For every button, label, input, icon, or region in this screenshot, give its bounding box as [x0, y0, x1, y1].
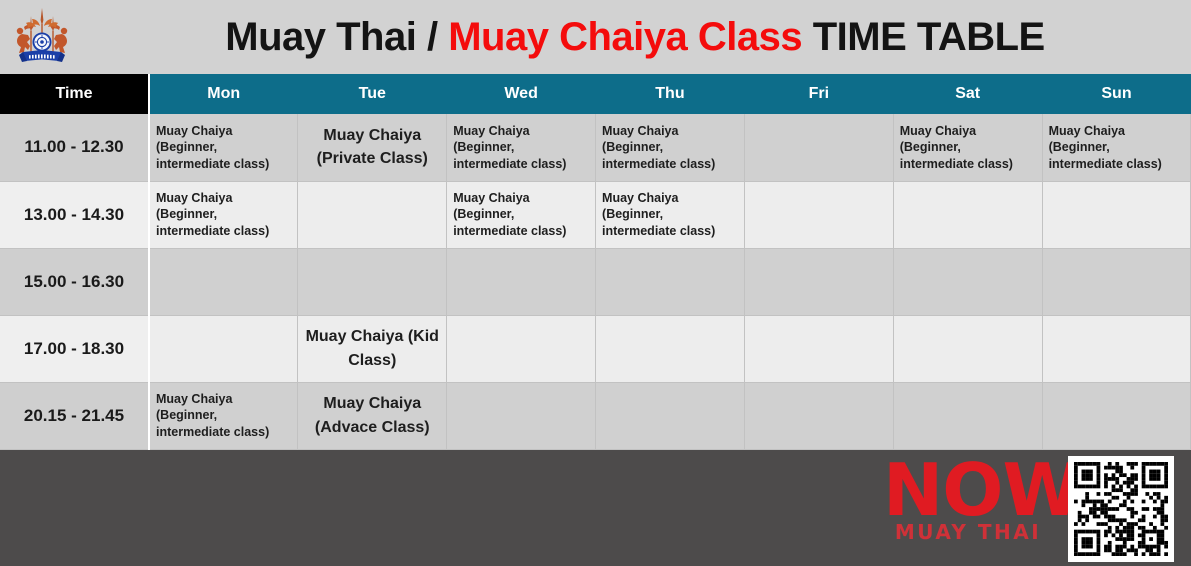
empty-cell [893, 181, 1042, 248]
empty-cell [744, 248, 893, 315]
empty-cell [596, 315, 745, 382]
empty-cell [1042, 315, 1191, 382]
brand-logo: NOW MUAY THAI [883, 454, 1053, 562]
class-cell[interactable]: Muay Chaiya (Beginner, intermediate clas… [893, 114, 1042, 181]
column-header-thu: Thu [596, 74, 745, 114]
empty-cell [744, 114, 893, 181]
column-header-wed: Wed [447, 74, 596, 114]
column-header-mon: Mon [149, 74, 298, 114]
empty-cell [893, 315, 1042, 382]
title-segment-time-table: TIME TABLE [802, 15, 1045, 59]
class-label: Muay Chaiya (Kid Class) [299, 325, 445, 371]
empty-cell [596, 248, 745, 315]
class-label: Muay Chaiya (Beginner, intermediate clas… [151, 391, 296, 441]
class-label: Muay Chaiya (Beginner, intermediate clas… [151, 123, 296, 173]
column-header-sun: Sun [1042, 74, 1191, 114]
class-label: Muay Chaiya (Beginner, intermediate clas… [151, 190, 296, 240]
column-header-tue: Tue [298, 74, 447, 114]
class-cell[interactable]: Muay Chaiya (Beginner, intermediate clas… [1042, 114, 1191, 181]
empty-cell [1042, 248, 1191, 315]
page-title: Muay Thai / Muay Chaiya Class TIME TABLE [150, 0, 1150, 74]
class-cell[interactable]: Muay Chaiya (Kid Class) [298, 315, 447, 382]
empty-cell [744, 181, 893, 248]
muay-thai-emblem-icon [9, 6, 75, 68]
class-cell[interactable]: Muay Chaiya (Advace Class) [298, 382, 447, 449]
table-body: 11.00 - 12.30Muay Chaiya (Beginner, inte… [0, 114, 1191, 449]
empty-cell [1042, 181, 1191, 248]
empty-cell [149, 248, 298, 315]
class-label: Muay Chaiya (Beginner, intermediate clas… [1044, 123, 1190, 173]
class-label: Muay Chaiya (Beginner, intermediate clas… [895, 123, 1041, 173]
time-slot-label: 15.00 - 16.30 [0, 248, 149, 315]
class-cell[interactable]: Muay Chaiya (Beginner, intermediate clas… [596, 114, 745, 181]
class-label: Muay Chaiya (Beginner, intermediate clas… [448, 190, 594, 240]
class-label: Muay Chaiya (Beginner, intermediate clas… [448, 123, 594, 173]
table-row: 15.00 - 16.30 [0, 248, 1191, 315]
brand-tagline-muay-thai: MUAY THAI [883, 522, 1053, 542]
class-label: Muay Chaiya (Advace Class) [299, 392, 445, 438]
empty-cell [893, 382, 1042, 449]
empty-cell [1042, 382, 1191, 449]
empty-cell [596, 382, 745, 449]
title-segment-muay-thai: Muay Thai / [225, 15, 448, 59]
time-slot-label: 17.00 - 18.30 [0, 315, 149, 382]
class-cell[interactable]: Muay Chaiya (Beginner, intermediate clas… [149, 114, 298, 181]
empty-cell [298, 181, 447, 248]
class-label: Muay Chaiya (Private Class) [299, 124, 445, 170]
time-slot-label: 20.15 - 21.45 [0, 382, 149, 449]
empty-cell [447, 248, 596, 315]
table-row: 11.00 - 12.30Muay Chaiya (Beginner, inte… [0, 114, 1191, 181]
column-header-sat: Sat [893, 74, 1042, 114]
table-row: 20.15 - 21.45Muay Chaiya (Beginner, inte… [0, 382, 1191, 449]
table-row: 13.00 - 14.30Muay Chaiya (Beginner, inte… [0, 181, 1191, 248]
empty-cell [149, 315, 298, 382]
class-cell[interactable]: Muay Chaiya (Beginner, intermediate clas… [447, 181, 596, 248]
page-footer: NOW MUAY THAI [0, 450, 1191, 566]
class-label: Muay Chaiya (Beginner, intermediate clas… [597, 190, 743, 240]
page-header: Muay Thai / Muay Chaiya Class TIME TABLE [0, 0, 1191, 74]
table-header-row: Time Mon Tue Wed Thu Fri Sat Sun [0, 74, 1191, 114]
class-label: Muay Chaiya (Beginner, intermediate clas… [597, 123, 743, 173]
empty-cell [744, 382, 893, 449]
class-schedule-table: Time Mon Tue Wed Thu Fri Sat Sun 11.00 -… [0, 74, 1191, 450]
qr-code-icon[interactable] [1068, 456, 1174, 562]
empty-cell [447, 315, 596, 382]
class-cell[interactable]: Muay Chaiya (Beginner, intermediate clas… [447, 114, 596, 181]
empty-cell [744, 315, 893, 382]
title-segment-muay-chaiya-class: Muay Chaiya Class [448, 15, 802, 59]
table-row: 17.00 - 18.30Muay Chaiya (Kid Class) [0, 315, 1191, 382]
timetable-page: Muay Thai / Muay Chaiya Class TIME TABLE… [0, 0, 1191, 566]
class-cell[interactable]: Muay Chaiya (Beginner, intermediate clas… [149, 382, 298, 449]
column-header-fri: Fri [744, 74, 893, 114]
empty-cell [298, 248, 447, 315]
brand-name-now: NOW [883, 456, 1053, 524]
time-slot-label: 11.00 - 12.30 [0, 114, 149, 181]
class-cell[interactable]: Muay Chaiya (Beginner, intermediate clas… [596, 181, 745, 248]
empty-cell [447, 382, 596, 449]
column-header-time: Time [0, 74, 149, 114]
class-cell[interactable]: Muay Chaiya (Private Class) [298, 114, 447, 181]
class-cell[interactable]: Muay Chaiya (Beginner, intermediate clas… [149, 181, 298, 248]
empty-cell [893, 248, 1042, 315]
time-slot-label: 13.00 - 14.30 [0, 181, 149, 248]
